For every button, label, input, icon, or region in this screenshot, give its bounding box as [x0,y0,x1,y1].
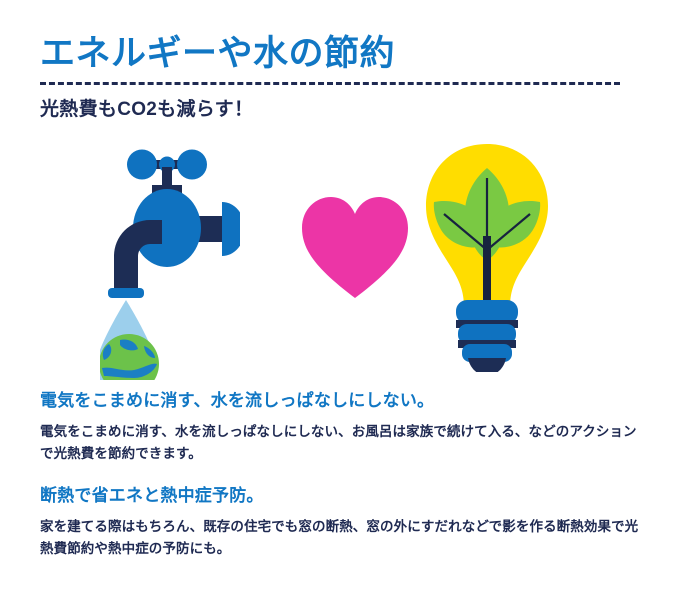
header-divider [40,82,620,85]
illustration-band [0,140,688,380]
infographic-page: エネルギーや水の節約 光熱費もCO2も減らす！ [0,0,688,609]
content-section-1: 電気をこまめに消す、水を流しっぱなしにしない。 電気をこまめに消す、水を流しっぱ… [40,390,652,466]
lightbulb-icon [420,140,555,372]
page-title: エネルギーや水の節約 [40,34,640,73]
faucet-icon [100,140,240,380]
header: エネルギーや水の節約 光熱費もCO2も減らす！ [40,34,640,121]
section-1-heading: 電気をこまめに消す、水を流しっぱなしにしない。 [40,390,652,412]
heart-illustration [300,195,410,305]
section-2-heading: 断熱で省エネと熱中症予防。 [40,485,652,507]
heart-icon [300,195,410,300]
page-subtitle: 光熱費もCO2も減らす！ [40,94,640,121]
content-section-2: 断熱で省エネと熱中症予防。 家を建てる際はもちろん、既存の住宅でも窓の断熱、窓の… [40,485,652,561]
lightbulb-illustration [420,140,555,377]
section-2-body: 家を建てる際はもちろん、既存の住宅でも窓の断熱、窓の外にすだれなどで影を作る断熱… [40,516,640,561]
section-1-body: 電気をこまめに消す、水を流しっぱなしにしない、お風呂は家族で続けて入る、などのア… [40,421,640,466]
faucet-illustration [100,140,240,385]
